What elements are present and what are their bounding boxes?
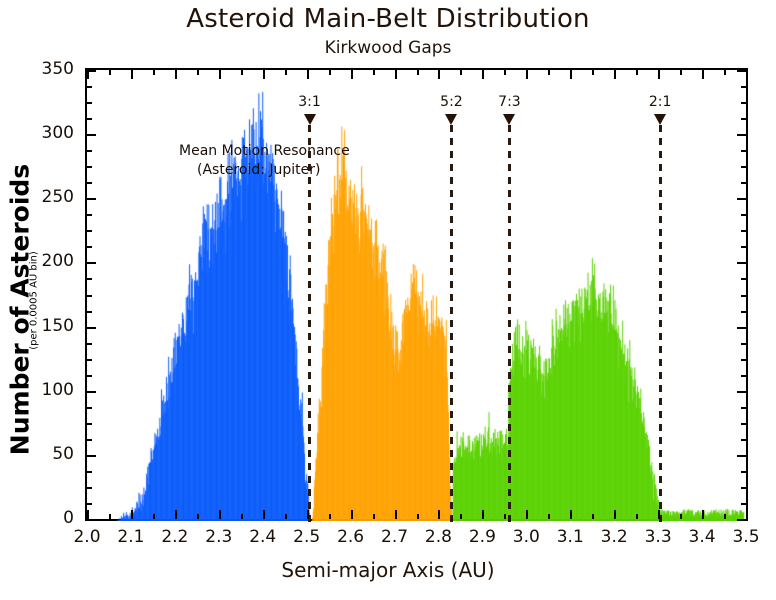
y-tick-mark — [87, 278, 92, 280]
resonance-dashed-line — [308, 125, 311, 523]
y-tick-mark-right — [737, 455, 746, 457]
x-tick-mark — [482, 510, 484, 519]
y-tick-mark-right — [737, 327, 746, 329]
annotation-mean-motion-resonance: Mean Motion Resonance — [179, 142, 350, 161]
y-tick-mark — [87, 182, 92, 184]
y-tick-mark-right — [737, 391, 746, 393]
x-tick-mark-top — [680, 70, 682, 75]
x-tick-mark-top — [482, 70, 484, 79]
triangle-down-icon — [654, 114, 666, 125]
y-tick-mark-right — [741, 423, 746, 425]
x-tick-mark — [219, 510, 221, 519]
x-tick-mark — [329, 514, 331, 519]
histogram-canvas — [89, 72, 748, 521]
x-tick-mark — [438, 510, 440, 519]
y-tick-mark-right — [741, 230, 746, 232]
resonance-dashed-line — [659, 125, 662, 523]
y-tick-mark — [87, 407, 92, 409]
y-tick-label: 350 — [42, 61, 74, 78]
y-tick-mark-right — [741, 86, 746, 88]
x-tick-mark — [460, 514, 462, 519]
y-tick-mark — [87, 311, 92, 313]
x-tick-mark — [175, 510, 177, 519]
y-tick-mark-right — [741, 343, 746, 345]
triangle-down-icon — [304, 114, 316, 125]
y-tick-mark-right — [737, 198, 746, 200]
x-tick-label: 3.5 — [716, 528, 776, 546]
x-tick-mark-top — [241, 70, 243, 75]
x-tick-mark-top — [263, 70, 265, 79]
y-tick-mark-right — [737, 519, 746, 521]
y-tick-label: 150 — [42, 318, 74, 335]
x-tick-mark — [548, 514, 550, 519]
x-tick-mark — [526, 510, 528, 519]
x-tick-mark — [109, 514, 111, 519]
x-tick-mark — [417, 514, 419, 519]
x-tick-mark-top — [417, 70, 419, 75]
x-tick-mark — [746, 510, 748, 519]
y-tick-mark-right — [737, 262, 746, 264]
x-tick-mark-top — [504, 70, 506, 75]
resonance-label: 3:1 — [290, 94, 330, 110]
x-tick-mark-top — [351, 70, 353, 79]
x-tick-mark-top — [548, 70, 550, 75]
x-tick-mark-top — [307, 70, 309, 79]
y-tick-mark-right — [741, 182, 746, 184]
y-tick-mark — [87, 198, 96, 200]
x-tick-mark — [263, 510, 265, 519]
resonance-label: 2:1 — [640, 94, 680, 110]
x-tick-mark-top — [109, 70, 111, 75]
y-tick-mark — [87, 150, 92, 152]
x-tick-mark — [351, 510, 353, 519]
y-tick-mark-right — [741, 311, 746, 313]
x-tick-mark — [570, 510, 572, 519]
x-tick-mark-top — [614, 70, 616, 79]
x-tick-mark-top — [373, 70, 375, 75]
x-axis-title: Semi-major Axis (AU) — [0, 558, 776, 582]
plot-area: Mean Motion Resonance (Asteroid: Jupiter… — [85, 68, 748, 521]
x-tick-mark-top — [636, 70, 638, 75]
x-tick-mark-top — [153, 70, 155, 75]
x-tick-mark — [614, 510, 616, 519]
x-tick-mark — [131, 510, 133, 519]
y-tick-mark-right — [741, 102, 746, 104]
y-tick-mark — [87, 503, 92, 505]
x-tick-mark-top — [460, 70, 462, 75]
x-tick-mark — [197, 514, 199, 519]
y-tick-mark — [87, 343, 92, 345]
x-tick-mark-top — [570, 70, 572, 79]
x-tick-mark-top — [438, 70, 440, 79]
y-axis-subtitle: (per 0.0005 AU bin) — [29, 211, 40, 391]
x-tick-mark-top — [219, 70, 221, 79]
x-tick-mark — [395, 510, 397, 519]
x-tick-mark-top — [702, 70, 704, 79]
y-tick-mark — [87, 423, 92, 425]
y-tick-mark-right — [737, 70, 746, 72]
y-tick-mark — [87, 439, 92, 441]
x-tick-mark — [658, 510, 660, 519]
resonance-dashed-line — [508, 125, 511, 523]
x-tick-mark-top — [329, 70, 331, 75]
y-tick-mark — [87, 102, 92, 104]
y-tick-mark-right — [741, 487, 746, 489]
x-tick-mark — [87, 510, 89, 519]
resonance-dashed-line — [450, 125, 453, 523]
y-tick-mark — [87, 118, 92, 120]
x-tick-mark — [373, 514, 375, 519]
y-tick-label: 200 — [42, 253, 74, 270]
x-tick-mark-top — [175, 70, 177, 79]
x-tick-mark — [241, 514, 243, 519]
y-tick-mark — [87, 230, 92, 232]
y-tick-mark — [87, 471, 92, 473]
y-tick-mark — [87, 391, 96, 393]
y-tick-mark-right — [741, 375, 746, 377]
x-tick-mark-top — [658, 70, 660, 79]
annotation-asteroid-jupiter: (Asteroid: Jupiter) — [197, 161, 321, 180]
y-tick-label: 300 — [42, 125, 74, 142]
y-tick-mark — [87, 134, 96, 136]
chart-subtitle: Kirkwood Gaps — [0, 38, 776, 58]
y-tick-mark — [87, 86, 92, 88]
chart-root: Asteroid Main-Belt Distribution Kirkwood… — [0, 0, 776, 600]
triangle-down-icon — [503, 114, 515, 125]
y-tick-mark-right — [741, 214, 746, 216]
x-tick-mark-top — [724, 70, 726, 75]
x-tick-mark-top — [285, 70, 287, 75]
chart-title: Asteroid Main-Belt Distribution — [0, 4, 776, 34]
y-tick-mark — [87, 246, 92, 248]
y-tick-mark-right — [737, 134, 746, 136]
y-tick-label: 50 — [52, 446, 74, 463]
y-tick-mark-right — [741, 295, 746, 297]
y-tick-mark — [87, 166, 92, 168]
x-tick-mark — [504, 514, 506, 519]
y-tick-mark-right — [741, 407, 746, 409]
x-tick-mark — [636, 514, 638, 519]
y-tick-label: 0 — [63, 510, 74, 527]
y-tick-mark — [87, 214, 92, 216]
y-tick-mark-right — [741, 359, 746, 361]
y-tick-mark-right — [741, 246, 746, 248]
y-tick-mark — [87, 519, 96, 521]
y-tick-mark — [87, 327, 96, 329]
y-tick-label: 100 — [42, 382, 74, 399]
x-tick-mark — [680, 514, 682, 519]
y-tick-mark-right — [741, 439, 746, 441]
x-tick-mark — [724, 514, 726, 519]
y-tick-mark-right — [741, 166, 746, 168]
y-tick-mark — [87, 70, 96, 72]
y-tick-mark — [87, 359, 92, 361]
y-tick-mark — [87, 487, 92, 489]
x-tick-mark-top — [526, 70, 528, 79]
y-tick-label: 250 — [42, 189, 74, 206]
y-tick-mark-right — [741, 471, 746, 473]
y-tick-mark-right — [741, 118, 746, 120]
x-tick-mark-top — [131, 70, 133, 79]
triangle-down-icon — [445, 114, 457, 125]
y-tick-mark — [87, 262, 96, 264]
x-tick-mark-top — [395, 70, 397, 79]
y-tick-mark — [87, 375, 92, 377]
x-tick-mark-top — [592, 70, 594, 75]
resonance-label: 5:2 — [431, 94, 471, 110]
y-tick-mark — [87, 295, 92, 297]
x-tick-mark-top — [197, 70, 199, 75]
x-tick-mark — [592, 514, 594, 519]
x-tick-mark — [307, 510, 309, 519]
y-tick-mark-right — [741, 503, 746, 505]
y-tick-mark — [87, 455, 96, 457]
x-tick-mark — [153, 514, 155, 519]
resonance-label: 7:3 — [489, 94, 529, 110]
x-tick-mark-top — [746, 70, 748, 79]
x-tick-mark — [702, 510, 704, 519]
x-tick-mark — [285, 514, 287, 519]
y-tick-mark-right — [741, 278, 746, 280]
y-tick-mark-right — [741, 150, 746, 152]
